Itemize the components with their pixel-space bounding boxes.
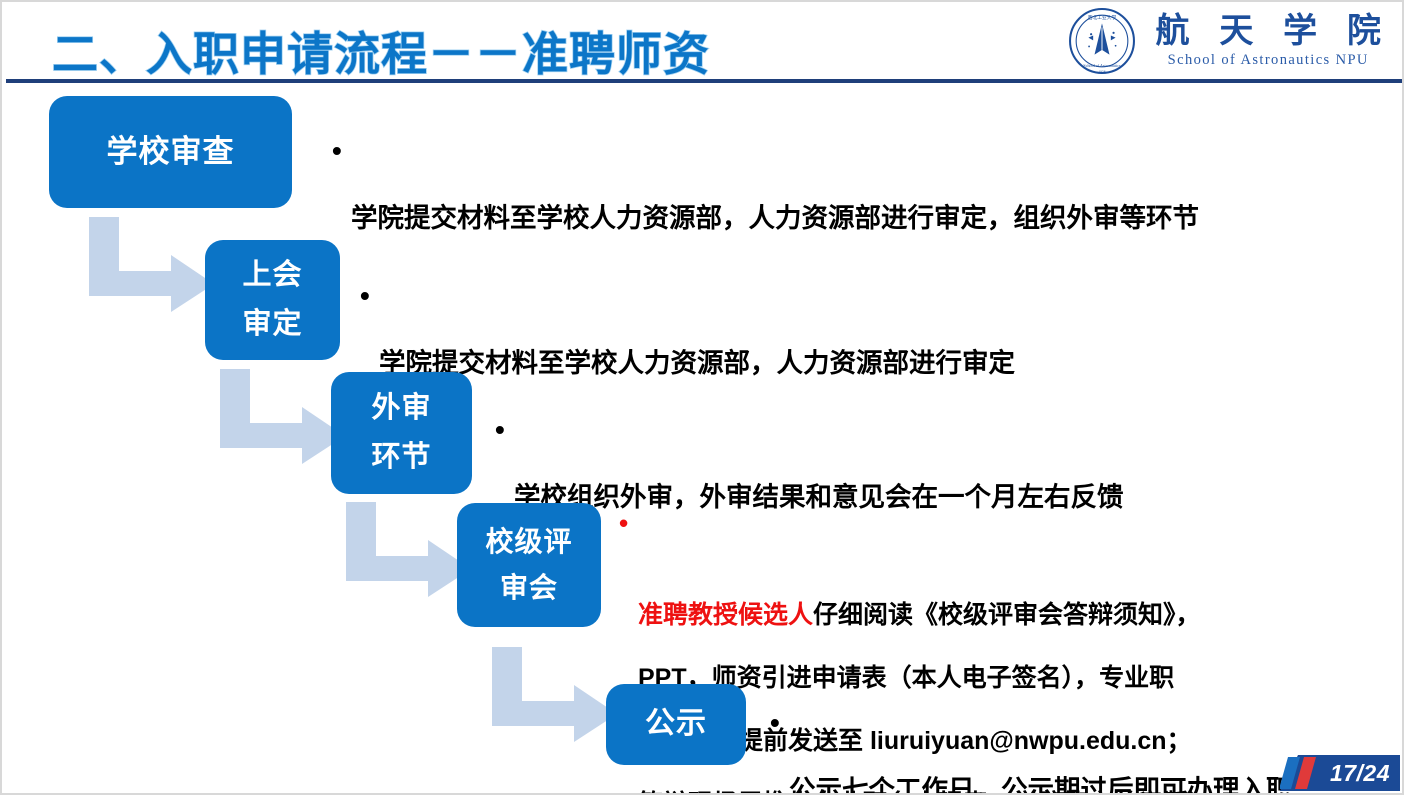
flow-node-label-line2: 审定 xyxy=(242,305,302,344)
flow-node-label-line1: 校级评 xyxy=(485,523,572,561)
flow-node-label-line1: 上会 xyxy=(242,256,302,295)
svg-text:School of Astronautics: School of Astronautics xyxy=(1084,63,1122,68)
bullet-icon: • xyxy=(332,133,342,169)
flow-node-label-line1: 外审 xyxy=(371,389,431,428)
flow-node-meeting-approval[interactable]: 上会 审定 xyxy=(205,240,340,360)
flow-desc-highlight: 准聘教授候选人 xyxy=(638,601,813,629)
flow-desc-public-notice: • 公示七个工作日，公示期过后即可办理入职 xyxy=(770,704,1350,795)
connector-arrow-2 xyxy=(220,369,345,464)
school-seal-icon: 西北工业大学 School of Astronautics 1958 xyxy=(1068,7,1136,75)
flow-node-label: 学校审查 xyxy=(107,131,235,173)
page-title: 二、入职申请流程－－准聘师资 xyxy=(52,18,710,84)
logo-english-name: School of Astronautics NPU xyxy=(1168,53,1369,68)
flow-desc-text: 公示七个工作日，公示期过后即可办理入职 xyxy=(770,773,1350,795)
flow-node-external-review[interactable]: 外审 环节 xyxy=(331,372,472,494)
bullet-icon: • xyxy=(360,278,370,314)
flow-desc-school-review: • 学院提交材料至学校人力资源部，人力资源部进行审定，组织外审等环节 xyxy=(332,132,1342,270)
connector-arrow-1 xyxy=(89,217,214,312)
flow-node-label: 公示 xyxy=(645,704,707,745)
flow-node-label-line2: 审会 xyxy=(500,569,558,607)
flow-desc-text: 学院提交材料至学校人力资源部，人力资源部进行审定 xyxy=(360,346,1340,380)
svg-text:1958: 1958 xyxy=(1099,69,1106,73)
connector-arrow-4 xyxy=(492,647,617,742)
flow-node-school-review[interactable]: 学校审查 xyxy=(49,96,292,208)
flow-node-label-line2: 环节 xyxy=(371,438,431,477)
flow-node-public-notice[interactable]: 公示 xyxy=(606,684,746,765)
header-divider xyxy=(6,79,1402,83)
bullet-icon: • xyxy=(495,412,505,448)
slide-canvas: 二、入职申请流程－－准聘师资 西北工业大学 School of Astronau… xyxy=(0,0,1404,795)
bullet-icon: • xyxy=(619,506,628,540)
bullet-icon: • xyxy=(770,705,780,741)
flow-desc-text: 学院提交材料至学校人力资源部，人力资源部进行审定，组织外审等环节 xyxy=(332,201,1342,235)
page-number-badge: 17/24 xyxy=(1280,755,1400,791)
flow-desc-line-1: 仔细阅读《校级评审会答辩须知》， xyxy=(813,601,1201,629)
school-logo: 西北工业大学 School of Astronautics 1958 航 天 学… xyxy=(1068,7,1390,75)
logo-chinese-name: 航 天 学 院 xyxy=(1146,14,1390,48)
flow-desc-meeting-approval: • 学院提交材料至学校人力资源部，人力资源部进行审定 xyxy=(360,277,1340,415)
page-number-text: 17/24 xyxy=(1330,760,1400,787)
connector-arrow-3 xyxy=(346,502,471,597)
flow-node-university-committee[interactable]: 校级评 审会 xyxy=(457,503,601,627)
